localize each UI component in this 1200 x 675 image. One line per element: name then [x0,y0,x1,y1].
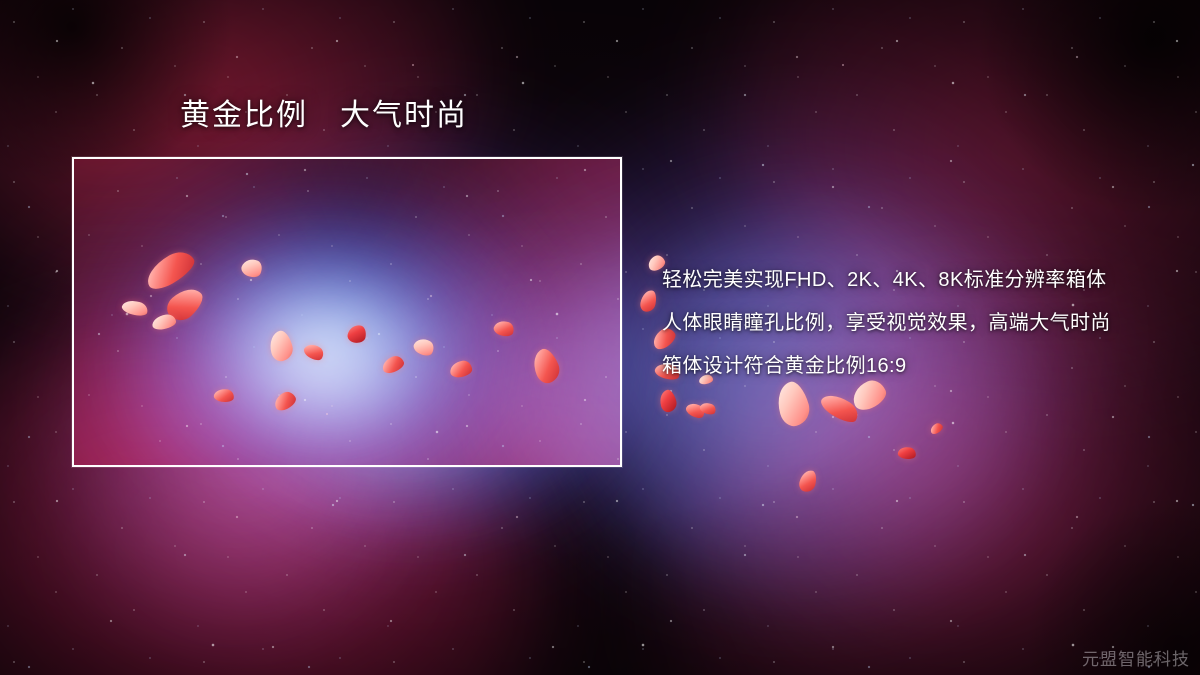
body-copy: 轻松完美实现FHD、2K、4K、8K标准分辨率箱体 人体眼睛瞳孔比例，享受视觉效… [662,259,1162,388]
nebula-photo-frame[interactable] [72,157,622,467]
body-copy-line-3: 箱体设计符合黄金比例16:9 [662,345,1162,388]
watermark: 元盟智能科技 [1082,645,1190,670]
page-title: 黄金比例 大气时尚 [180,101,468,131]
frame-background [74,159,620,465]
body-copy-line-1: 轻松完美实现FHD、2K、4K、8K标准分辨率箱体 [662,259,1162,302]
body-copy-line-2: 人体眼睛瞳孔比例，享受视觉效果，高端大气时尚 [662,302,1162,345]
frame-scene [74,159,620,465]
presentation-slide: 黄金比例 大气时尚 轻松完美实现FHD、2K、4K、8K标准分辨率箱体 人体眼睛… [0,0,1200,675]
frame-inner [74,159,620,465]
